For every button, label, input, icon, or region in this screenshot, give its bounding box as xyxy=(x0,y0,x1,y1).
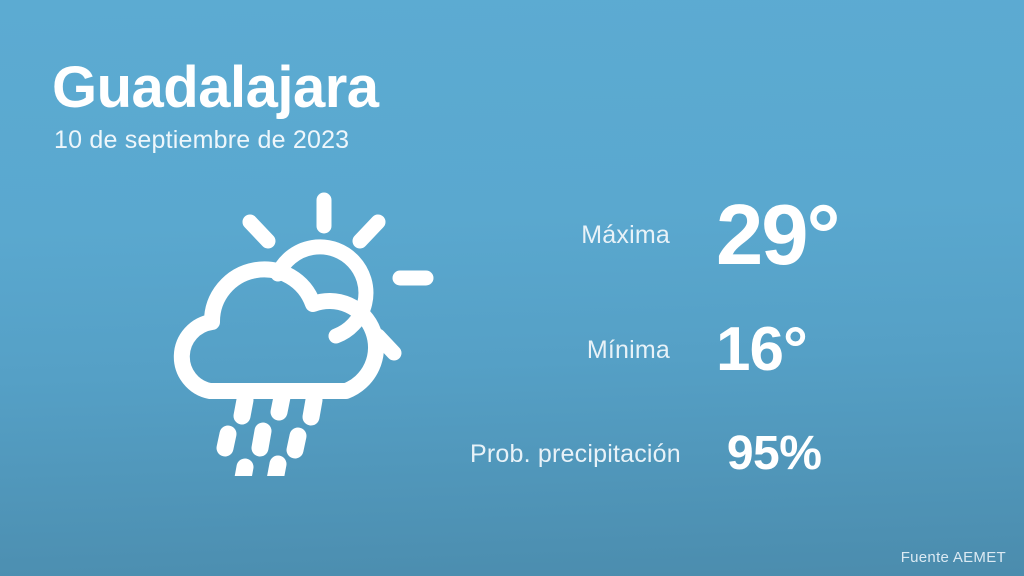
forecast-date: 10 de septiembre de 2023 xyxy=(54,127,572,155)
forecast-panel: Máxima 29° Mínima 16° Prob. precipitació… xyxy=(470,176,940,502)
rain-drops xyxy=(225,392,314,476)
sun-disc xyxy=(278,247,366,336)
value-minima: 16° xyxy=(716,319,940,381)
forecast-row-minima: Mínima 16° xyxy=(470,294,940,406)
header: Guadalajara 10 de septiembre de 2023 xyxy=(52,58,572,154)
source-attribution: Fuente AEMET xyxy=(901,549,1006,566)
value-precipitacion: 95% xyxy=(727,430,940,478)
weather-card: Guadalajara 10 de septiembre de 2023 xyxy=(0,0,1024,576)
label-minima: Mínima xyxy=(470,336,716,365)
weather-icon-graphic xyxy=(150,186,440,476)
sun-behind-rain-cloud-icon xyxy=(150,186,440,476)
label-maxima: Máxima xyxy=(470,221,716,250)
city-name: Guadalajara xyxy=(52,58,572,119)
sun-ray-top-left xyxy=(250,222,268,241)
forecast-row-precipitacion: Prob. precipitación 95% xyxy=(470,406,940,502)
label-precipitacion: Prob. precipitación xyxy=(470,440,727,469)
sun-ray-top-right xyxy=(360,222,378,241)
value-maxima: 29° xyxy=(716,193,940,278)
forecast-row-maxima: Máxima 29° xyxy=(470,176,940,294)
